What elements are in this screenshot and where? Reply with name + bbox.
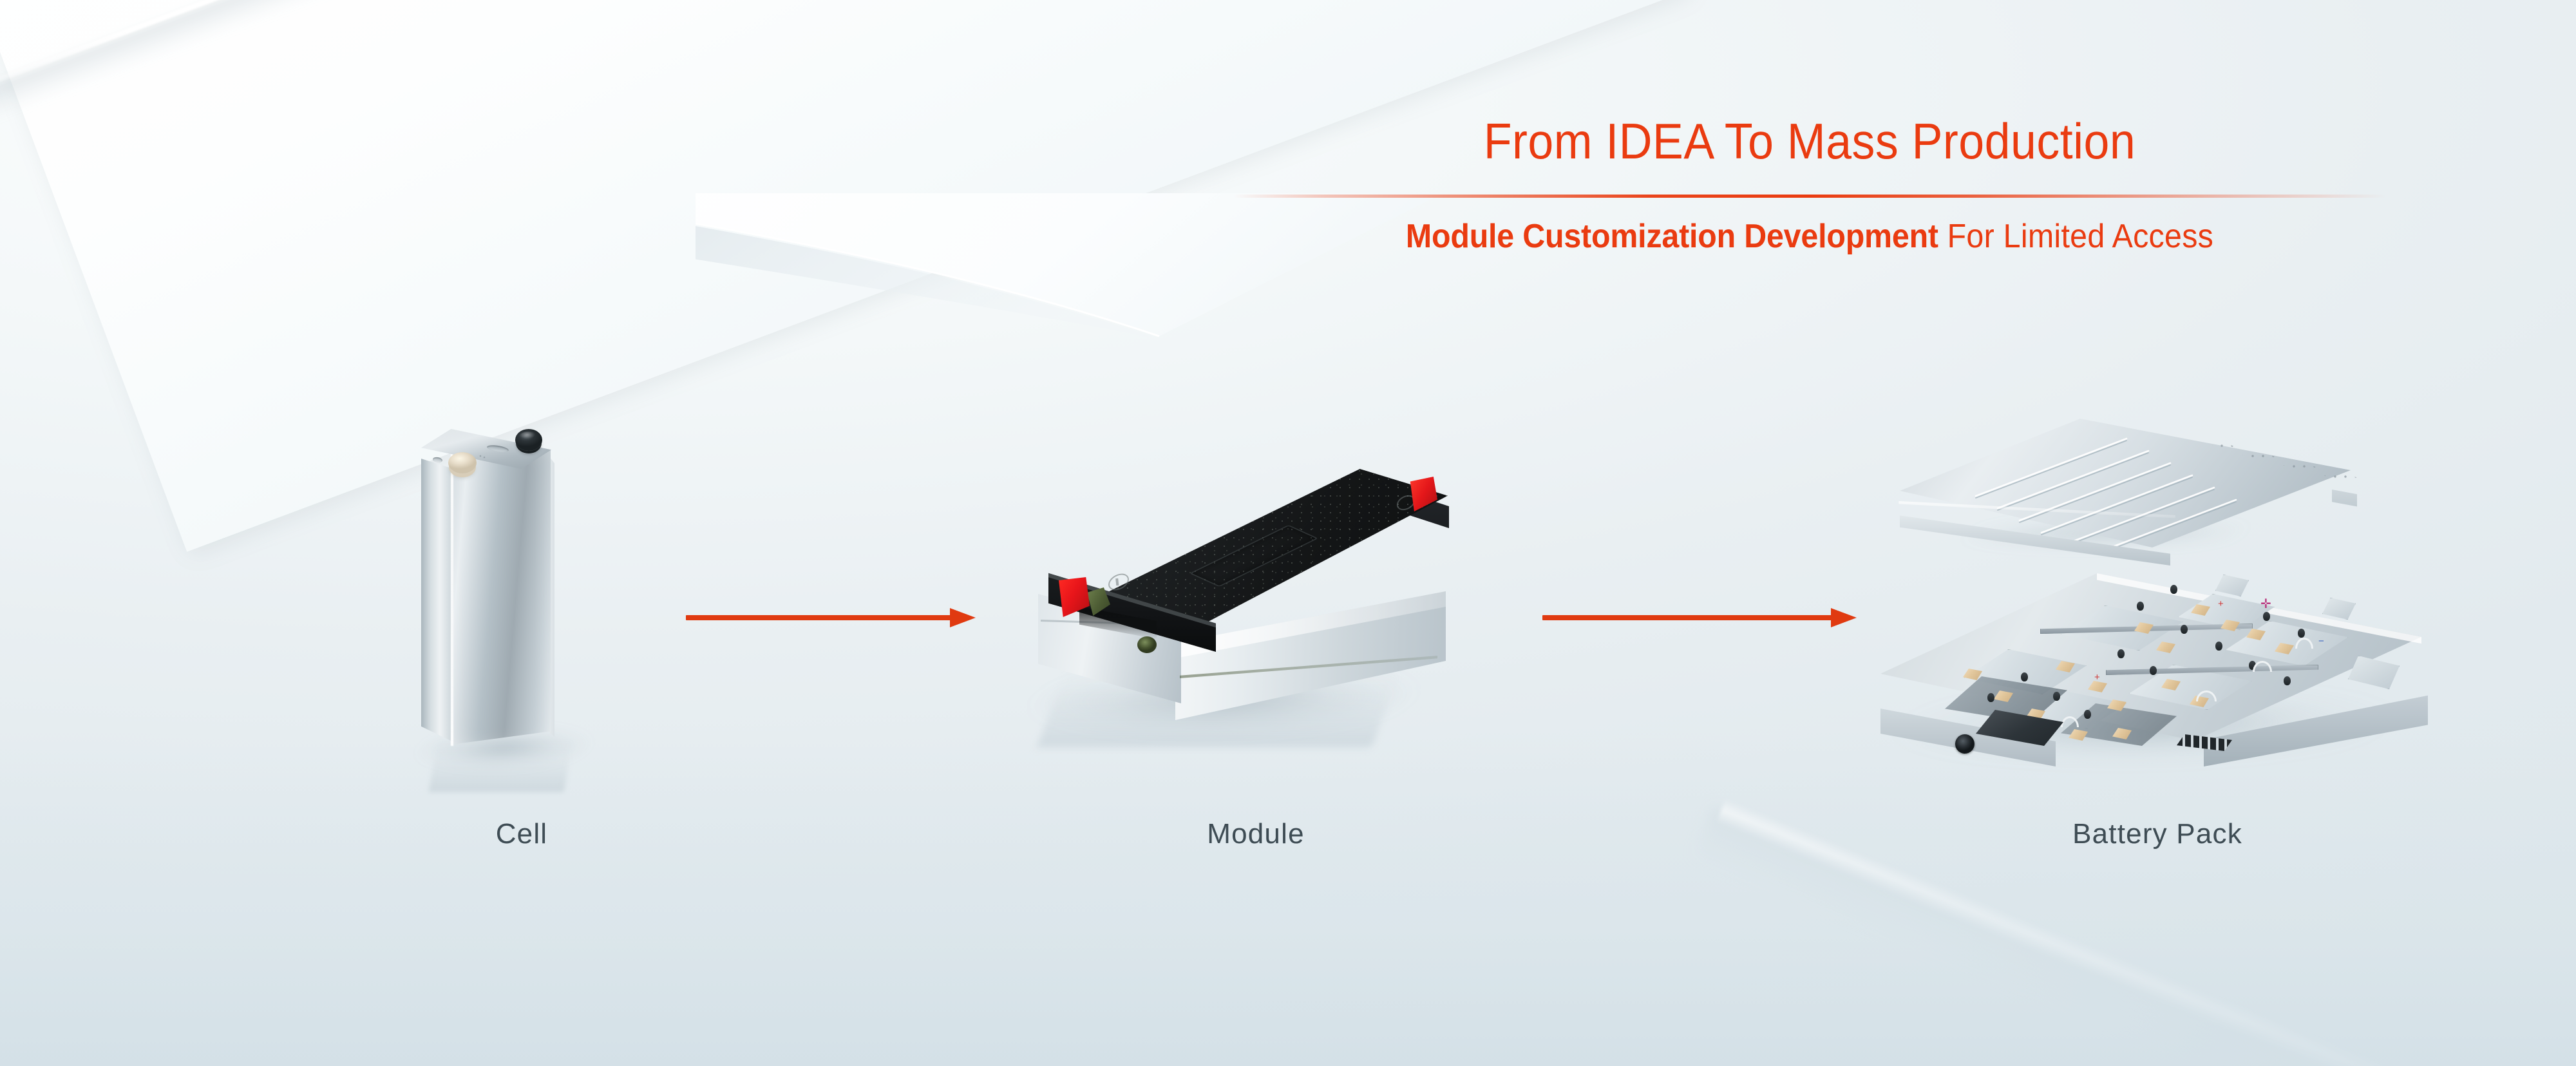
subtitle-light: For Limited Access xyxy=(1938,218,2213,255)
pack-polarity-mark: + xyxy=(2218,599,2224,609)
pack-bolt xyxy=(2021,672,2028,681)
cell-front-face xyxy=(451,450,551,745)
module-connector-green-secondary xyxy=(1137,636,1157,653)
pack-hv-connector xyxy=(1955,734,1975,754)
page-title: From IDEA To Mass Production xyxy=(1247,116,2372,166)
pack-bolt xyxy=(2150,666,2157,675)
header: From IDEA To Mass Production Module Cust… xyxy=(1198,116,2421,253)
pack-bolt xyxy=(2181,625,2188,634)
page-subtitle: Module Customization Development For Lim… xyxy=(1241,220,2379,253)
hero-banner: From IDEA To Mass Production Module Cust… xyxy=(0,0,2576,1066)
cell-negative-terminal xyxy=(515,429,542,451)
pack-bolt xyxy=(2170,585,2177,594)
stage-label-battery-pack: Battery Pack xyxy=(1868,818,2447,850)
arrow-head xyxy=(1831,608,1857,627)
pack-polarity-mark: + xyxy=(2094,672,2100,682)
cell-corner-highlight xyxy=(451,451,453,746)
pack-polarity-mark: − xyxy=(2318,636,2324,646)
pack-bolt xyxy=(2215,642,2222,651)
stage-battery-pack-artwork: ✛ + + − xyxy=(1868,412,2447,773)
stage-label-module: Module xyxy=(1011,818,1501,850)
pack-bolt xyxy=(1987,693,1994,702)
cell-top-marking xyxy=(479,455,487,459)
cell-top-hole xyxy=(432,457,442,463)
stage-label-cell: Cell xyxy=(412,818,631,850)
stage-cell-artwork xyxy=(412,419,631,818)
pack-bolt xyxy=(2137,602,2144,611)
cell-side-face xyxy=(421,459,453,742)
cell-positive-terminal xyxy=(448,452,477,473)
pack-mount-tab xyxy=(2322,598,2356,620)
stage-module-artwork xyxy=(1011,451,1501,773)
pack-bolt xyxy=(2117,649,2125,658)
background-ground-vignette xyxy=(0,731,2576,1066)
pack-bolt xyxy=(2298,629,2305,638)
arrow-module-to-batterypack xyxy=(1542,608,1858,627)
pack-bolt xyxy=(2053,692,2060,701)
pack-alignment-mark: ✛ xyxy=(2260,598,2271,611)
title-divider xyxy=(1233,195,2386,198)
arrow-shaft xyxy=(686,615,951,620)
pack-bolt xyxy=(2284,676,2291,685)
cell-reflection xyxy=(429,741,573,792)
subtitle-strong: Module Customization Development xyxy=(1406,218,1938,255)
pack-mount-tab xyxy=(2215,575,2249,596)
arrow-head xyxy=(950,608,976,627)
arrow-cell-to-module xyxy=(686,608,976,627)
arrow-shaft xyxy=(1542,615,1832,620)
pack-bolt xyxy=(2263,612,2270,621)
pack-bolt xyxy=(2084,710,2091,719)
